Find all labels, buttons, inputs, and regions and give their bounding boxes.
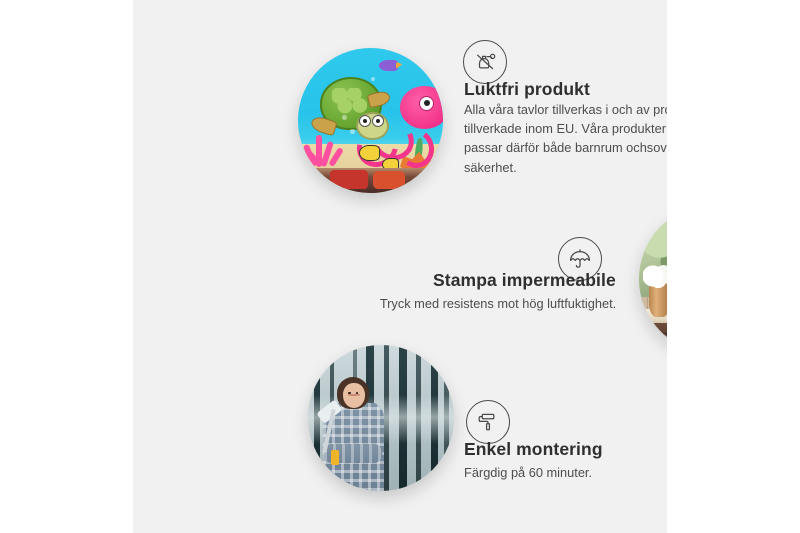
feature-description-assembly: Färgdig på 60 minuter. — [464, 463, 667, 482]
feature-title-assembly: Enkel montering — [464, 439, 603, 460]
promo-infographic-page: Luktfri produkt Alla våra tavlor tillver… — [0, 0, 800, 533]
bathroom-wallpaper-photo — [639, 205, 667, 353]
paint-roller-icon — [466, 400, 510, 444]
feature-description-odourless: Alla våra tavlor tillverkas i och av pro… — [464, 100, 667, 177]
feature-description-waterproof: Tryck med resistens mot hög luftfuktighe… — [333, 294, 663, 313]
no-fragrance-icon — [463, 40, 507, 84]
feature-title-odourless: Luktfri produkt — [464, 79, 590, 100]
coral-decor — [305, 129, 349, 167]
feature-title-waterproof: Stampa impermeabile — [433, 270, 616, 291]
underwater-cartoon-photo — [298, 48, 443, 193]
woman-paint-roller-forest-photo — [308, 345, 454, 491]
content-panel: Luktfri produkt Alla våra tavlor tillver… — [133, 0, 667, 533]
